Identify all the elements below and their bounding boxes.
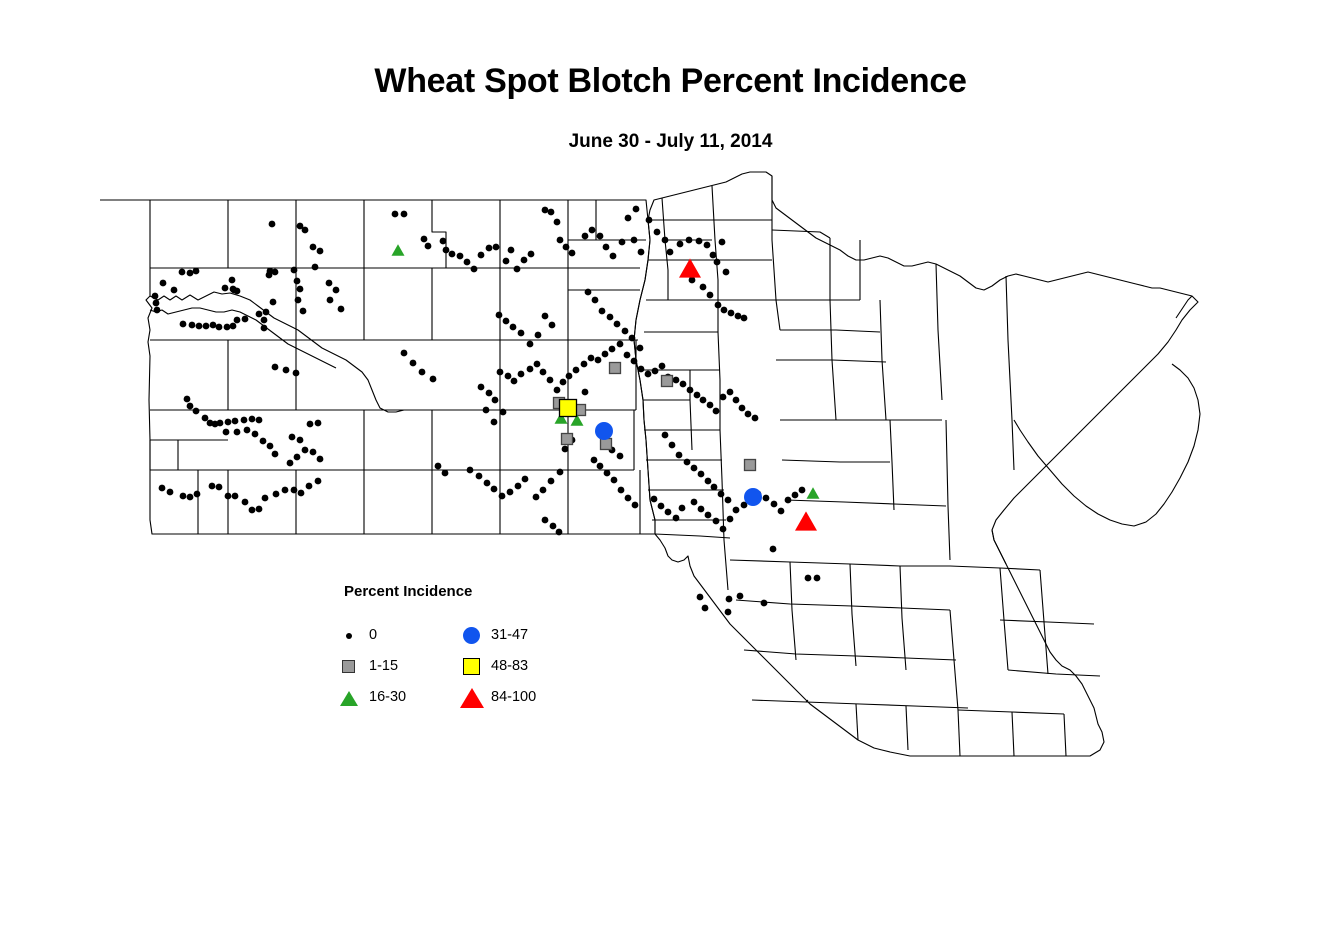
map-marker-0 [696, 238, 703, 245]
map-marker-0 [317, 248, 324, 255]
map-marker-0 [503, 318, 510, 325]
map-marker-0 [167, 489, 174, 496]
map-marker-0 [244, 427, 251, 434]
map-marker-0 [651, 496, 658, 503]
map-marker-0 [704, 242, 711, 249]
map-marker-0 [638, 249, 645, 256]
map-marker-0 [302, 227, 309, 234]
map-marker-0 [282, 487, 289, 494]
map-marker-0 [179, 269, 186, 276]
map-marker-0 [294, 454, 301, 461]
symbol-shape [460, 688, 484, 708]
map-marker-0 [741, 315, 748, 322]
map-marker-0 [187, 403, 194, 410]
map-marker-0 [725, 497, 732, 504]
map-marker-0 [629, 335, 636, 342]
map-marker-0 [625, 495, 632, 502]
map-marker-0 [622, 328, 629, 335]
map-marker-0 [492, 397, 499, 404]
map-marker-0 [799, 487, 806, 494]
map-marker-0 [686, 237, 693, 244]
map-marker-0 [560, 379, 567, 386]
map-marker-0 [785, 497, 792, 504]
map-marker-0 [554, 387, 561, 394]
map-marker-0 [471, 266, 478, 273]
map-marker-0 [566, 373, 573, 380]
legend: Percent Incidence 01-1516-3031-4748-8384… [339, 583, 569, 713]
map-marker-0 [486, 390, 493, 397]
map-marker-0 [691, 499, 698, 506]
map-marker-0 [752, 415, 759, 422]
map-marker-0 [542, 207, 549, 214]
map-marker-0 [589, 227, 596, 234]
map-marker-0 [582, 233, 589, 240]
map-marker-0 [638, 366, 645, 373]
map-marker-0 [533, 494, 540, 501]
map-marker-0 [152, 293, 159, 300]
map-marker-0 [556, 529, 563, 536]
map-marker-0 [617, 453, 624, 460]
map-marker-0 [680, 381, 687, 388]
map-marker-0 [410, 360, 417, 367]
map-marker-0 [710, 252, 717, 259]
map-marker-0 [705, 512, 712, 519]
incidence-markers-layer [0, 0, 1341, 926]
map-marker-0 [493, 244, 500, 251]
map-marker-0 [720, 526, 727, 533]
map-marker-0 [603, 244, 610, 251]
map-marker-31-47 [595, 422, 613, 440]
map-marker-0 [153, 300, 160, 307]
map-marker-84-100 [795, 511, 817, 530]
map-marker-0 [194, 491, 201, 498]
map-marker-0 [256, 311, 263, 318]
map-marker-0 [510, 324, 517, 331]
map-marker-0 [727, 389, 734, 396]
map-marker-0 [327, 297, 334, 304]
map-marker-0 [242, 499, 249, 506]
map-marker-0 [585, 289, 592, 296]
map-marker-0 [547, 377, 554, 384]
map-marker-0 [778, 508, 785, 515]
map-marker-0 [694, 392, 701, 399]
map-marker-0 [591, 457, 598, 464]
map-marker-0 [310, 449, 317, 456]
map-marker-0 [705, 478, 712, 485]
map-marker-0 [607, 314, 614, 321]
map-marker-0 [249, 507, 256, 514]
map-marker-0 [542, 517, 549, 524]
map-marker-0 [287, 460, 294, 467]
map-marker-0 [224, 324, 231, 331]
map-marker-0 [599, 308, 606, 315]
map-marker-0 [665, 509, 672, 516]
map-marker-0 [542, 313, 549, 320]
map-marker-0 [187, 494, 194, 501]
map-marker-0 [289, 434, 296, 441]
map-marker-16-30 [392, 244, 405, 255]
map-marker-0 [267, 443, 274, 450]
map-marker-0 [715, 302, 722, 309]
map-marker-0 [291, 487, 298, 494]
map-marker-0 [180, 321, 187, 328]
map-marker-0 [154, 307, 161, 314]
map-marker-0 [312, 264, 319, 271]
map-marker-0 [223, 429, 230, 436]
map-marker-0 [401, 211, 408, 218]
map-marker-48-83 [560, 400, 577, 417]
map-marker-0 [702, 605, 709, 612]
map-marker-0 [737, 593, 744, 600]
map-marker-0 [210, 322, 217, 329]
map-marker-0 [256, 506, 263, 513]
map-marker-0 [550, 523, 557, 530]
map-marker-0 [569, 250, 576, 257]
yellow-square-symbol-icon [461, 656, 483, 678]
map-marker-0 [720, 394, 727, 401]
map-marker-0 [184, 396, 191, 403]
map-marker-0 [677, 241, 684, 248]
map-marker-0 [302, 447, 309, 454]
map-marker-0 [528, 251, 535, 258]
map-marker-0 [739, 405, 746, 412]
dot-symbol-icon [339, 625, 361, 647]
map-marker-0 [249, 416, 256, 423]
map-marker-0 [392, 211, 399, 218]
map-marker-0 [160, 280, 167, 287]
map-marker-0 [483, 407, 490, 414]
map-marker-0 [230, 323, 237, 330]
map-marker-0 [216, 484, 223, 491]
map-marker-0 [435, 463, 442, 470]
map-marker-0 [507, 489, 514, 496]
map-marker-0 [637, 345, 644, 352]
map-marker-0 [714, 259, 721, 266]
map-marker-0 [652, 368, 659, 375]
map-marker-0 [673, 515, 680, 522]
map-marker-0 [261, 325, 268, 332]
map-marker-0 [563, 244, 570, 251]
map-marker-0 [317, 456, 324, 463]
map-marker-0 [306, 483, 313, 490]
map-marker-0 [687, 387, 694, 394]
map-marker-0 [658, 503, 665, 510]
map-marker-0 [662, 237, 669, 244]
map-marker-0 [187, 270, 194, 277]
map-marker-0 [283, 367, 290, 374]
map-marker-0 [771, 501, 778, 508]
map-marker-0 [272, 451, 279, 458]
map-marker-0 [707, 292, 714, 299]
map-marker-31-47 [744, 488, 762, 506]
map-marker-0 [508, 247, 515, 254]
map-marker-0 [707, 402, 714, 409]
map-marker-0 [673, 377, 680, 384]
map-marker-0 [256, 417, 263, 424]
map-marker-0 [511, 378, 518, 385]
map-marker-0 [297, 286, 304, 293]
map-marker-0 [614, 321, 621, 328]
map-marker-0 [476, 473, 483, 480]
map-marker-1-15 [601, 439, 612, 450]
map-marker-0 [491, 419, 498, 426]
map-marker-0 [260, 438, 267, 445]
map-marker-0 [684, 459, 691, 466]
map-marker-0 [711, 484, 718, 491]
symbol-shape [463, 658, 480, 675]
map-marker-0 [581, 361, 588, 368]
map-marker-0 [326, 280, 333, 287]
map-marker-0 [297, 437, 304, 444]
map-marker-0 [293, 370, 300, 377]
map-marker-0 [562, 446, 569, 453]
legend-title: Percent Incidence [344, 583, 472, 600]
map-marker-0 [535, 332, 542, 339]
map-marker-0 [549, 322, 556, 329]
map-marker-0 [261, 317, 268, 324]
map-marker-0 [225, 493, 232, 500]
map-marker-0 [486, 245, 493, 252]
map-marker-0 [478, 384, 485, 391]
map-marker-0 [263, 309, 270, 316]
map-marker-0 [496, 312, 503, 319]
map-marker-0 [467, 467, 474, 474]
map-marker-0 [725, 609, 732, 616]
map-canvas [0, 0, 1341, 926]
map-marker-0 [307, 421, 314, 428]
map-marker-0 [805, 575, 812, 582]
map-marker-0 [193, 268, 200, 275]
symbol-shape [346, 633, 352, 639]
map-marker-0 [735, 313, 742, 320]
map-marker-0 [419, 369, 426, 376]
map-marker-0 [721, 307, 728, 314]
map-marker-0 [604, 470, 611, 477]
map-marker-0 [232, 493, 239, 500]
map-marker-0 [478, 252, 485, 259]
legend-item-label: 48-83 [491, 658, 528, 674]
map-marker-0 [225, 419, 232, 426]
map-marker-0 [203, 323, 210, 330]
map-marker-0 [515, 483, 522, 490]
map-marker-0 [718, 491, 725, 498]
map-marker-0 [338, 306, 345, 313]
map-marker-0 [548, 478, 555, 485]
map-marker-0 [222, 285, 229, 292]
map-marker-0 [733, 397, 740, 404]
blue-circle-symbol-icon [461, 625, 483, 647]
map-marker-0 [491, 486, 498, 493]
map-marker-0 [217, 420, 224, 427]
map-marker-0 [761, 600, 768, 607]
map-marker-0 [597, 233, 604, 240]
legend-item-label: 0 [369, 627, 377, 643]
map-marker-0 [540, 487, 547, 494]
map-marker-0 [272, 269, 279, 276]
map-marker-0 [298, 490, 305, 497]
green-triangle-symbol-icon [339, 687, 361, 709]
gray-square-symbol-icon [339, 656, 361, 678]
map-marker-0 [582, 389, 589, 396]
map-marker-0 [573, 367, 580, 374]
map-marker-0 [697, 594, 704, 601]
map-marker-0 [315, 478, 322, 485]
map-marker-0 [521, 257, 528, 264]
map-marker-0 [770, 546, 777, 553]
map-marker-0 [273, 491, 280, 498]
map-marker-0 [421, 236, 428, 243]
symbol-shape [342, 660, 355, 673]
map-marker-0 [442, 470, 449, 477]
map-marker-0 [631, 358, 638, 365]
map-marker-0 [662, 432, 669, 439]
map-marker-0 [522, 476, 529, 483]
legend-item-label: 1-15 [369, 658, 398, 674]
map-marker-0 [610, 253, 617, 260]
map-marker-0 [193, 408, 200, 415]
map-marker-0 [631, 237, 638, 244]
map-marker-1-15 [610, 363, 621, 374]
map-marker-0 [611, 477, 618, 484]
map-marker-0 [234, 429, 241, 436]
map-marker-0 [241, 417, 248, 424]
map-marker-0 [698, 471, 705, 478]
map-marker-0 [698, 506, 705, 513]
map-marker-0 [272, 364, 279, 371]
map-marker-0 [727, 516, 734, 523]
map-marker-0 [527, 341, 534, 348]
map-marker-0 [659, 363, 666, 370]
map-marker-0 [269, 221, 276, 228]
map-marker-0 [527, 366, 534, 373]
map-marker-0 [300, 308, 307, 315]
map-marker-0 [262, 495, 269, 502]
map-marker-0 [633, 206, 640, 213]
map-marker-0 [713, 518, 720, 525]
map-marker-0 [700, 397, 707, 404]
map-page: Wheat Spot Blotch Percent Incidence June… [0, 0, 1341, 926]
map-marker-0 [401, 350, 408, 357]
symbol-shape [340, 691, 358, 706]
map-marker-0 [632, 502, 639, 509]
map-marker-0 [430, 376, 437, 383]
map-marker-0 [315, 420, 322, 427]
map-marker-0 [500, 409, 507, 416]
map-marker-0 [557, 237, 564, 244]
map-marker-0 [171, 287, 178, 294]
map-marker-1-15 [562, 434, 573, 445]
map-marker-0 [669, 442, 676, 449]
map-marker-0 [713, 408, 720, 415]
symbol-shape [463, 627, 480, 644]
map-marker-0 [733, 507, 740, 514]
map-marker-0 [557, 469, 564, 476]
map-marker-0 [232, 418, 239, 425]
map-marker-0 [602, 351, 609, 358]
map-marker-0 [814, 575, 821, 582]
map-marker-0 [726, 596, 733, 603]
map-marker-0 [700, 284, 707, 291]
map-marker-0 [196, 323, 203, 330]
map-marker-0 [548, 209, 555, 216]
map-marker-0 [440, 238, 447, 245]
map-marker-0 [270, 299, 277, 306]
map-marker-0 [333, 287, 340, 294]
map-marker-0 [291, 267, 298, 274]
map-marker-0 [667, 249, 674, 256]
legend-item-label: 84-100 [491, 689, 536, 705]
map-marker-0 [609, 346, 616, 353]
map-marker-0 [180, 493, 187, 500]
map-marker-0 [518, 371, 525, 378]
map-marker-0 [518, 330, 525, 337]
map-marker-1-15 [745, 460, 756, 471]
map-marker-0 [310, 244, 317, 251]
map-marker-0 [540, 369, 547, 376]
map-marker-0 [728, 310, 735, 317]
map-marker-0 [646, 217, 653, 224]
red-triangle-symbol-icon [461, 687, 483, 709]
map-marker-0 [295, 297, 302, 304]
map-marker-0 [497, 369, 504, 376]
map-marker-0 [209, 483, 216, 490]
map-marker-0 [554, 219, 561, 226]
legend-item-label: 31-47 [491, 627, 528, 643]
map-marker-0 [234, 288, 241, 295]
map-marker-0 [534, 361, 541, 368]
map-marker-0 [425, 243, 432, 250]
map-marker-0 [691, 465, 698, 472]
map-marker-0 [443, 247, 450, 254]
map-marker-0 [159, 485, 166, 492]
map-marker-0 [654, 229, 661, 236]
map-marker-0 [484, 480, 491, 487]
map-marker-0 [505, 373, 512, 380]
map-marker-0 [457, 253, 464, 260]
map-marker-0 [645, 371, 652, 378]
legend-item-label: 16-30 [369, 689, 406, 705]
map-marker-0 [294, 278, 301, 285]
map-marker-0 [617, 341, 624, 348]
map-marker-0 [624, 352, 631, 359]
map-marker-0 [618, 487, 625, 494]
map-marker-0 [792, 492, 799, 499]
map-marker-16-30 [807, 487, 820, 498]
map-marker-0 [242, 316, 249, 323]
map-marker-0 [216, 324, 223, 331]
map-marker-0 [676, 452, 683, 459]
map-marker-0 [679, 505, 686, 512]
map-marker-0 [597, 463, 604, 470]
map-marker-1-15 [662, 376, 673, 387]
map-marker-0 [464, 259, 471, 266]
map-marker-0 [266, 272, 273, 279]
map-marker-0 [619, 239, 626, 246]
map-marker-0 [745, 411, 752, 418]
map-marker-0 [229, 277, 236, 284]
map-marker-0 [499, 493, 506, 500]
map-marker-0 [719, 239, 726, 246]
map-marker-84-100 [679, 258, 701, 277]
map-marker-0 [588, 355, 595, 362]
map-marker-0 [252, 431, 259, 438]
map-marker-0 [189, 322, 196, 329]
map-marker-0 [763, 495, 770, 502]
map-marker-0 [503, 258, 510, 265]
map-marker-0 [595, 357, 602, 364]
map-marker-0 [592, 297, 599, 304]
map-marker-0 [514, 266, 521, 273]
